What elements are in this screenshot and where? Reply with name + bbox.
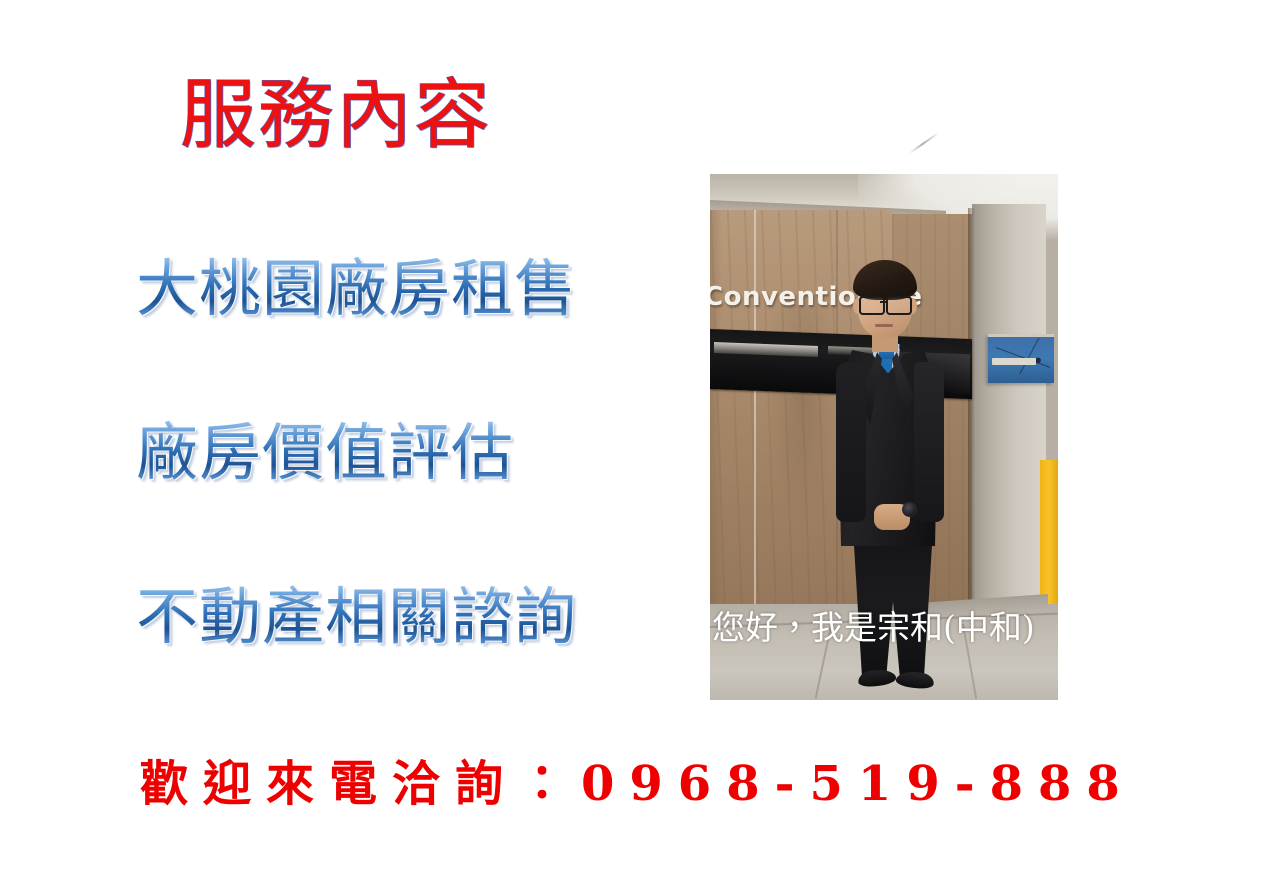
photo-caption: 您好，我是宗和(中和) <box>712 610 1058 646</box>
service-item-3: 不動產相關諮詢 <box>136 584 577 649</box>
glasses-bridge-icon <box>880 301 887 303</box>
photo-artwork-markings <box>996 338 1050 374</box>
person-mouth <box>875 324 893 327</box>
glasses-lens-right-icon <box>886 296 912 315</box>
contact-phone-line: 歡迎來電洽詢：0968-519-888 <box>140 744 1135 814</box>
person-wristwatch <box>902 502 917 517</box>
person-hair <box>853 260 917 300</box>
agent-photo: Convention Ce <box>710 174 1058 700</box>
person-shoe-right <box>895 670 934 690</box>
glasses-lens-left-icon <box>859 296 885 315</box>
slide-canvas: 服務內容 大桃園廠房租售 廠房價值評估 不動產相關諮詢 Convention C… <box>0 0 1263 891</box>
person-arm-left <box>836 362 866 522</box>
photo-wood-shading <box>768 294 838 524</box>
service-item-1: 大桃園廠房租售 <box>136 256 577 321</box>
page-title: 服務內容 <box>180 74 492 156</box>
scratch-artifact <box>909 132 939 154</box>
photo-wall-seam-left <box>754 210 756 630</box>
photo-artwork-label-bar <box>992 358 1036 365</box>
service-item-2: 廠房價值評估 <box>136 420 514 485</box>
person-arm-right <box>914 362 944 522</box>
person-trousers <box>850 536 936 678</box>
